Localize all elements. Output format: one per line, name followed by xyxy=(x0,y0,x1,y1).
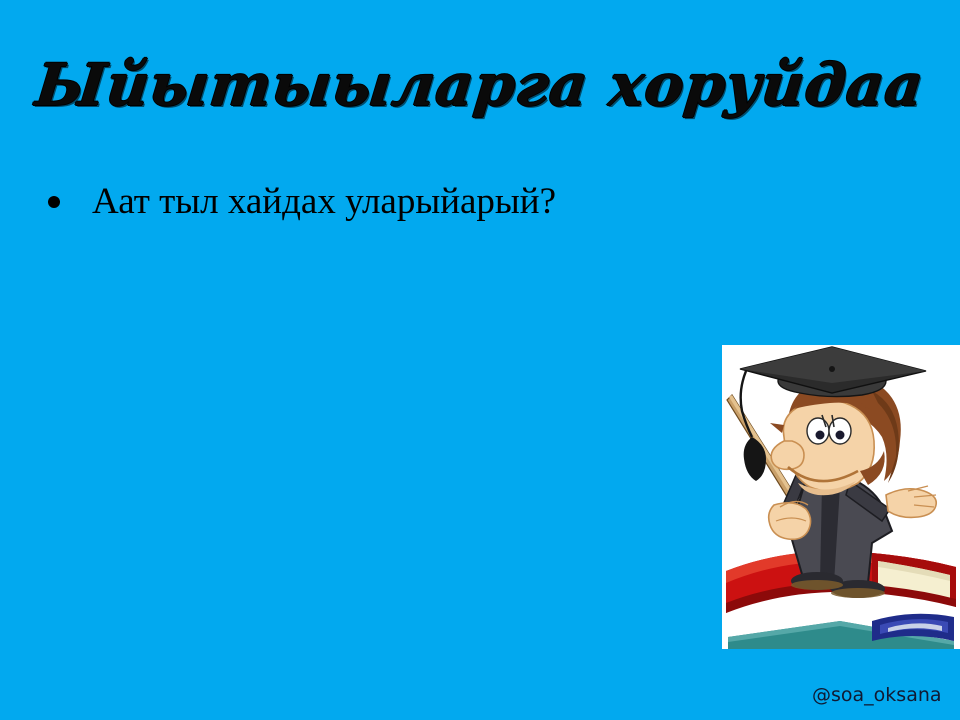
slide-body-list: Аат тыл хайдах уларыйарый? xyxy=(48,180,728,234)
left-hand-icon xyxy=(769,501,811,539)
watermark-handle: @soa_oksana xyxy=(812,686,942,705)
round-bullet-icon xyxy=(48,196,60,208)
clipart-illustration xyxy=(722,345,960,649)
slide-title: Ыйытыыларга хоруйдаа xyxy=(0,56,960,114)
bullet-text: Аат тыл хайдах уларыйарый? xyxy=(92,180,728,224)
presentation-slide: Ыйытыыларга хоруйдаа Аат тыл хайдах улар… xyxy=(0,0,960,720)
clipart-graduate-on-books xyxy=(722,345,960,649)
list-item: Аат тыл хайдах уларыйарый? xyxy=(48,180,728,224)
